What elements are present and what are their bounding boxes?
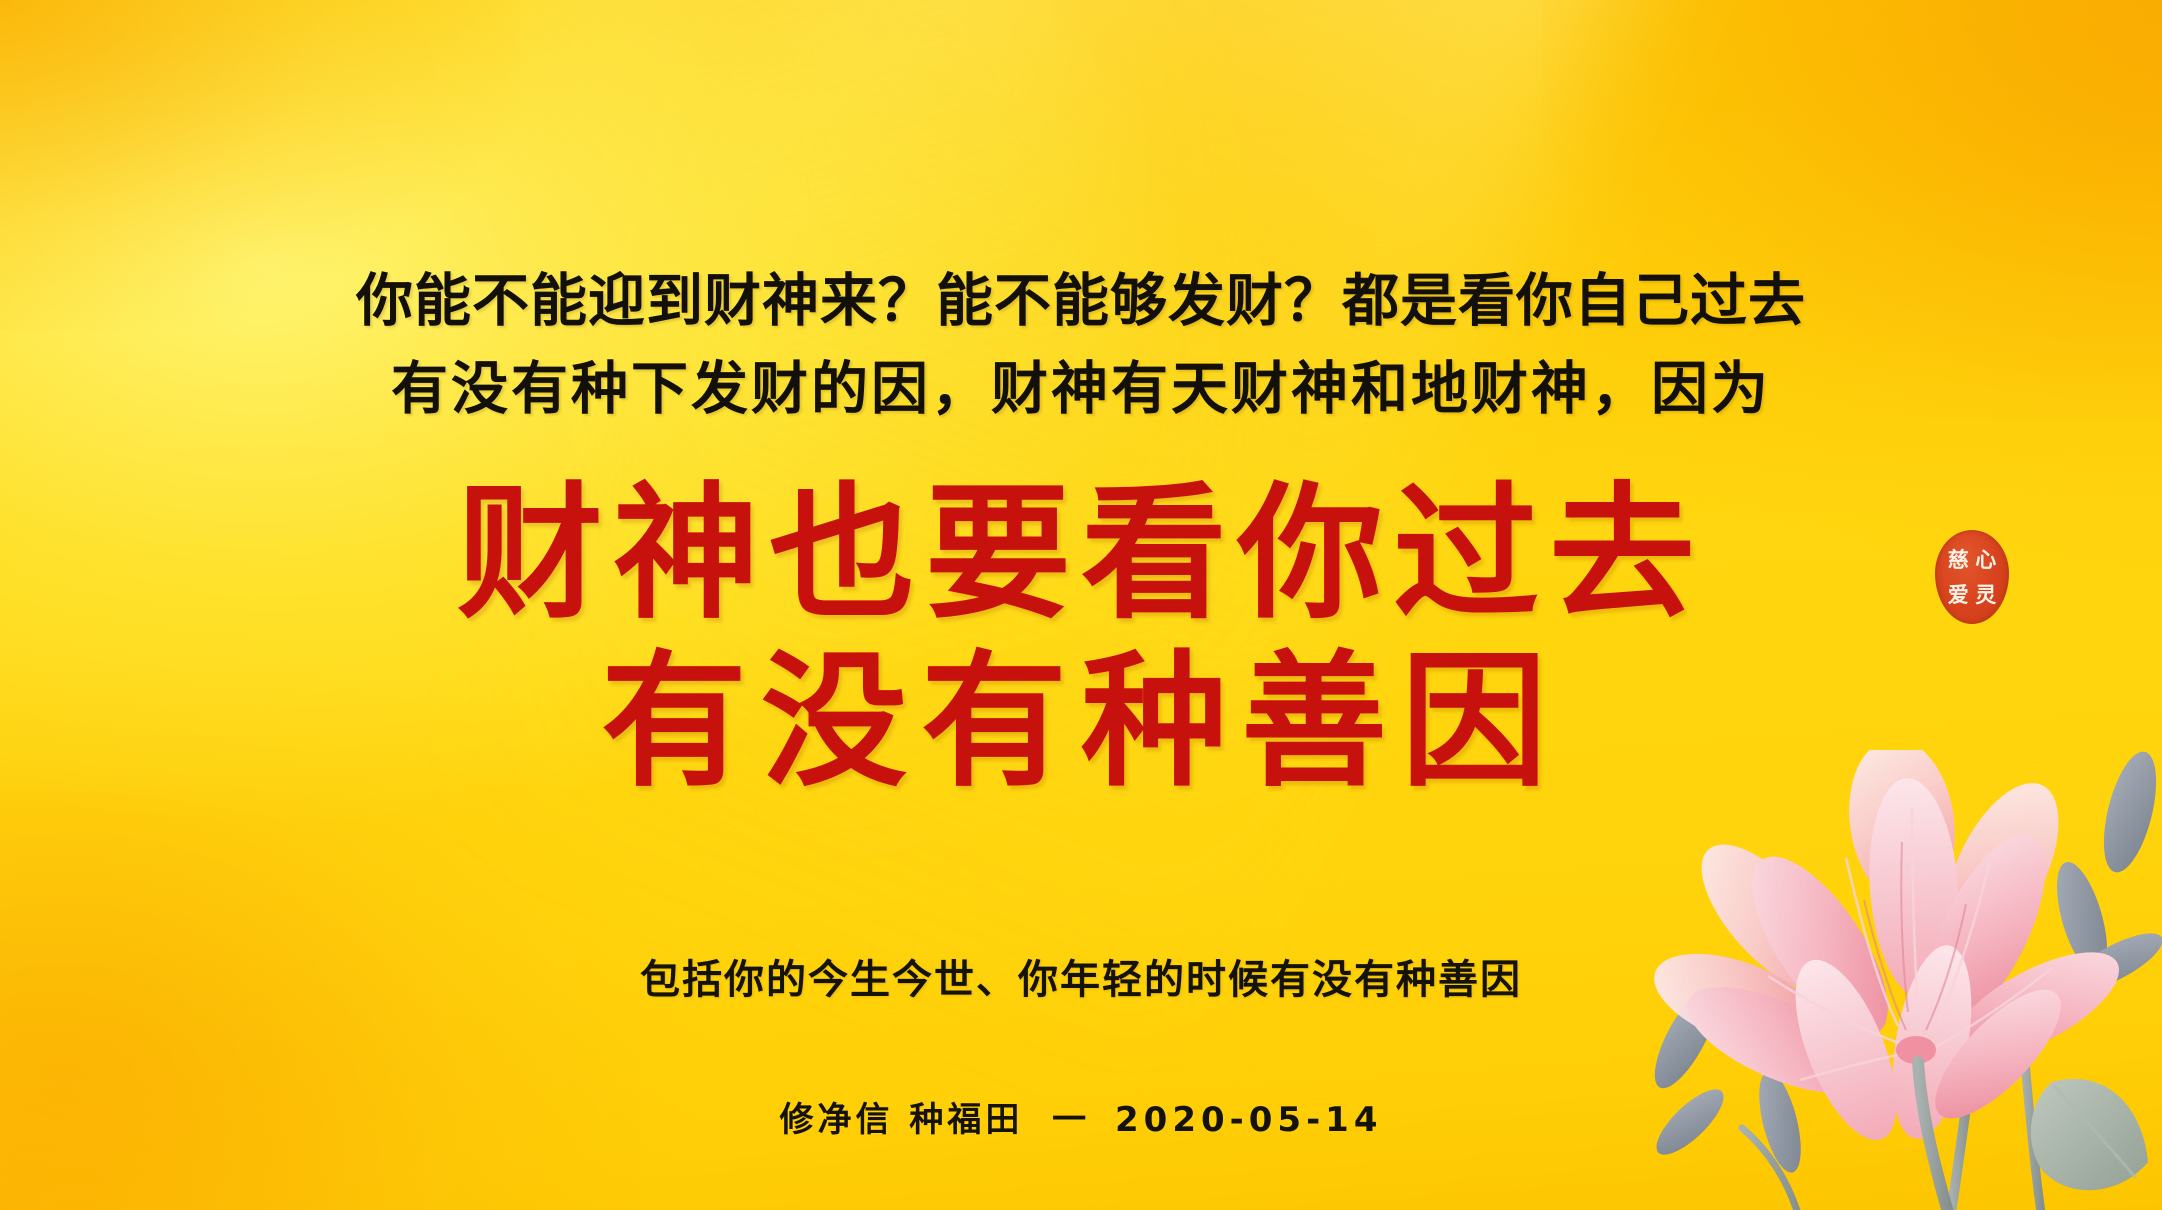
seal-char-1: 慈 — [1945, 542, 1972, 577]
headline-block: 财神也要看你过去 有没有种善因 — [0, 470, 2162, 806]
seal-char-3: 爱 — [1945, 578, 1972, 613]
footer-date: 2020-05-14 — [1115, 1100, 1382, 1140]
poster-content: 你能不能迎到财神来？能不能够发财？都是看你自己过去 有没有种下发财的因，财神有天… — [0, 0, 2162, 1210]
headline-line-1: 财神也要看你过去 — [0, 470, 2162, 638]
headline-line-2: 有没有种善因 — [0, 638, 2162, 806]
seal-characters: 慈 心 爱 灵 — [1945, 542, 1999, 612]
lead-line-2: 有没有种下发财的因，财神有天财神和地财神，因为 — [0, 346, 2162, 434]
seal-char-2: 心 — [1973, 542, 2000, 577]
subtitle-text: 包括你的今生今世、你年轻的时候有没有种善因 — [0, 952, 2162, 1008]
footer-source: 修净信 种福田 — [779, 1100, 1023, 1140]
seal-char-4: 灵 — [1973, 578, 2000, 613]
footer-credit: 修净信 种福田 一 2020-05-14 — [0, 1098, 2162, 1142]
footer-separator: 一 — [1052, 1100, 1086, 1140]
lead-paragraph: 你能不能迎到财神来？能不能够发财？都是看你自己过去 有没有种下发财的因，财神有天… — [0, 258, 2162, 434]
poster-canvas: 你能不能迎到财神来？能不能够发财？都是看你自己过去 有没有种下发财的因，财神有天… — [0, 0, 2162, 1210]
lead-line-1: 你能不能迎到财神来？能不能够发财？都是看你自己过去 — [0, 258, 2162, 346]
